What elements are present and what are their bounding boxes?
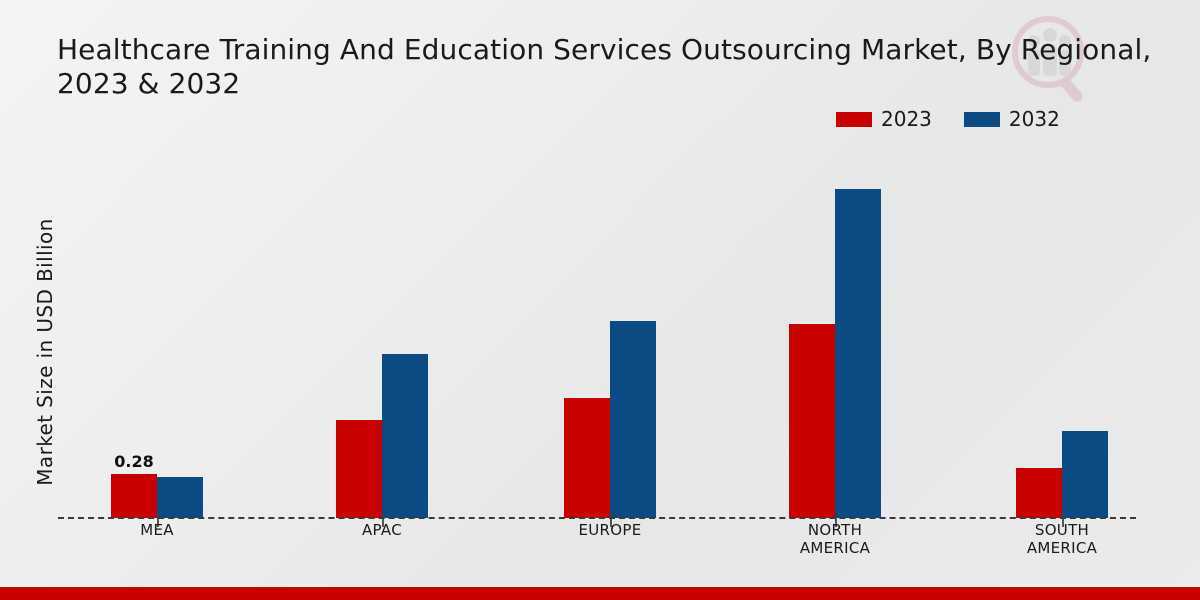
bar-group-europe bbox=[564, 140, 656, 518]
bar-value-2023-mea: 0.28 bbox=[114, 452, 153, 471]
legend-label-2032: 2032 bbox=[1009, 107, 1060, 131]
bar-group-north-america bbox=[789, 140, 881, 518]
bar-2023-north-america[interactable] bbox=[789, 324, 835, 518]
chart-canvas: Healthcare Training And Education Servic… bbox=[0, 0, 1200, 600]
bar-2023-apac[interactable] bbox=[336, 420, 382, 518]
bar-2032-europe[interactable] bbox=[610, 321, 656, 518]
bar-2023-europe[interactable] bbox=[564, 398, 610, 518]
legend-label-2023: 2023 bbox=[881, 107, 932, 131]
bar-2032-north-america[interactable] bbox=[835, 189, 881, 518]
x-axis-label-south-america: SOUTH AMERICA bbox=[952, 521, 1172, 557]
bar-2032-apac[interactable] bbox=[382, 354, 428, 518]
legend-swatch-2032 bbox=[964, 112, 1000, 127]
legend-swatch-2023 bbox=[836, 112, 872, 127]
x-axis-label-europe: EUROPE bbox=[500, 521, 720, 539]
legend-item-2032[interactable]: 2032 bbox=[964, 107, 1060, 131]
bar-2032-mea[interactable] bbox=[157, 477, 203, 518]
chart-legend: 2023 2032 bbox=[836, 107, 1060, 131]
x-axis-baseline bbox=[58, 517, 1136, 519]
plot-area: 0.28 bbox=[58, 140, 1136, 518]
bar-2023-mea[interactable]: 0.28 bbox=[111, 474, 157, 518]
bottom-accent-band bbox=[0, 587, 1200, 600]
bar-group-mea: 0.28 bbox=[111, 140, 203, 518]
bar-group-south-america bbox=[1016, 140, 1108, 518]
bar-2023-south-america[interactable] bbox=[1016, 468, 1062, 518]
x-axis-label-north-america: NORTH AMERICA bbox=[725, 521, 945, 557]
x-axis-label-mea: MEA bbox=[47, 521, 267, 539]
legend-item-2023[interactable]: 2023 bbox=[836, 107, 932, 131]
bar-group-apac bbox=[336, 140, 428, 518]
chart-title: Healthcare Training And Education Servic… bbox=[57, 33, 1200, 101]
bar-2032-south-america[interactable] bbox=[1062, 431, 1108, 518]
x-axis-label-apac: APAC bbox=[272, 521, 492, 539]
y-axis-title: Market Size in USD Billion bbox=[33, 152, 57, 552]
